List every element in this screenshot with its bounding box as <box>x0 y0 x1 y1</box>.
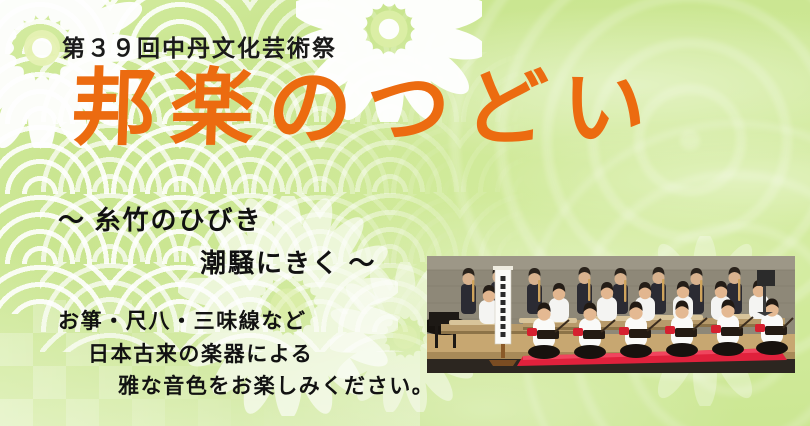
page-title: 邦楽のつどい <box>71 66 662 150</box>
tagline-line-1: 〜 糸竹のひびき <box>58 200 263 237</box>
description-line-3: 雅な音色をお楽しみください。 <box>58 370 434 403</box>
tagline-line-2: 潮騒にきく 〜 <box>200 243 377 280</box>
poster-canvas: 第３９回中丹文化芸術祭 邦楽のつどい 〜 糸竹のひびき 潮騒にきく 〜 お箏・尺… <box>0 0 810 426</box>
description-line-2: 日本古来の楽器による <box>58 338 434 371</box>
description-line-1: お箏・尺八・三味線など <box>58 309 307 333</box>
description-block: お箏・尺八・三味線など 日本古来の楽器による 雅な音色をお楽しみください。 <box>58 305 434 403</box>
koto-ensemble-performance-photo <box>427 256 795 373</box>
